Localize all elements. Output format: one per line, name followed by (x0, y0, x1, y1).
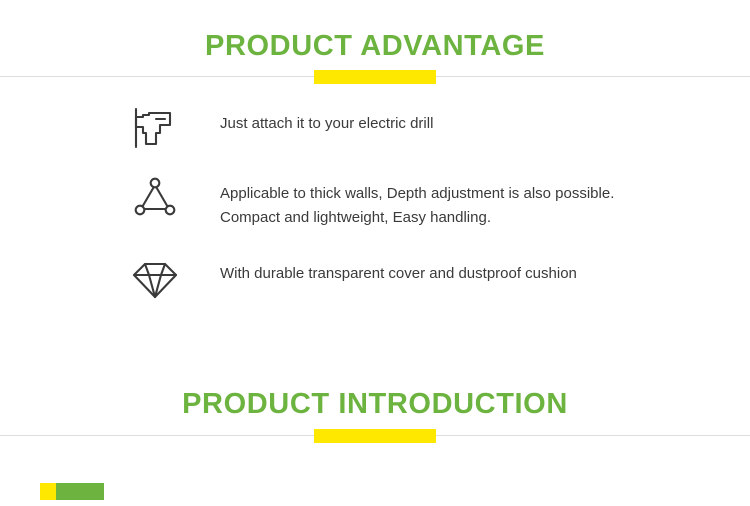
list-item: Just attach it to your electric drill (0, 104, 750, 150)
bottom-color-marks (40, 483, 104, 500)
green-mark (56, 483, 104, 500)
product-introduction-section-header: PRODUCT INTRODUCTION (0, 390, 750, 443)
feature-list: Just attach it to your electric drill Ap… (0, 104, 750, 324)
triangle-nodes-icon (132, 174, 194, 220)
feature-description: Applicable to thick walls, Depth adjustm… (220, 174, 614, 230)
advantage-divider (0, 70, 750, 84)
divider-highlight-tab (314, 70, 436, 84)
product-advantage-section-header: PRODUCT ADVANTAGE (0, 32, 750, 84)
page-title: PRODUCT INTRODUCTION (0, 390, 750, 419)
list-item: With durable transparent cover and dustp… (0, 254, 750, 300)
list-item: Applicable to thick walls, Depth adjustm… (0, 174, 750, 230)
divider-highlight-tab (314, 429, 436, 443)
feature-description: With durable transparent cover and dustp… (220, 254, 577, 286)
feature-line: Just attach it to your electric drill (220, 112, 433, 136)
diamond-icon (132, 254, 194, 300)
feature-line: Applicable to thick walls, Depth adjustm… (220, 182, 614, 206)
page-title: PRODUCT ADVANTAGE (0, 32, 750, 61)
yellow-mark (40, 483, 56, 500)
feature-line: Compact and lightweight, Easy handling. (220, 206, 614, 230)
feature-description: Just attach it to your electric drill (220, 104, 433, 136)
introduction-divider (0, 429, 750, 443)
feature-line: With durable transparent cover and dustp… (220, 262, 577, 286)
electric-drill-icon (132, 104, 194, 150)
